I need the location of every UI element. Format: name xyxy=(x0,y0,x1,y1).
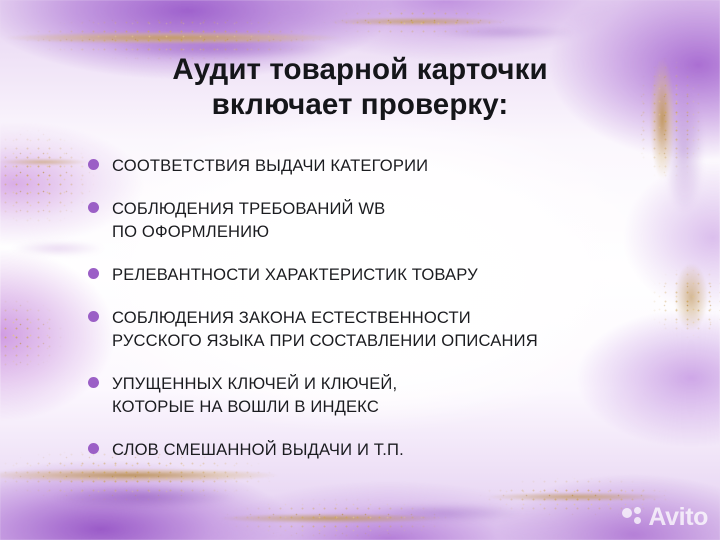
avito-dot-bottom xyxy=(634,517,641,524)
list-item: РЕЛЕВАНТНОСТИ ХАРАКТЕРИСТИК ТОВАРУ xyxy=(88,263,688,286)
avito-watermark: Avito xyxy=(622,505,708,530)
checklist: СООТВЕТСТВИЯ ВЫДАЧИ КАТЕГОРИИ СОБЛЮДЕНИЯ… xyxy=(88,154,688,461)
page-title-line-2: включает проверку: xyxy=(60,87,660,122)
list-item: СОБЛЮДЕНИЯ ЗАКОНА ЕСТЕСТВЕННОСТИ РУССКОГ… xyxy=(88,306,688,352)
list-item-text: СЛОВ СМЕШАННОЙ ВЫДАЧИ И Т.П. xyxy=(112,438,688,461)
bullet-dot-icon xyxy=(88,443,99,454)
bullet-dot-icon xyxy=(88,159,99,170)
list-item-text: СОБЛЮДЕНИЯ ТРЕБОВАНИЙ WB ПО ОФОРМЛЕНИЮ xyxy=(112,197,688,243)
avito-dot-large xyxy=(622,508,632,518)
list-item-text: СООТВЕТСТВИЯ ВЫДАЧИ КАТЕГОРИИ xyxy=(112,154,688,177)
list-item: СОБЛЮДЕНИЯ ТРЕБОВАНИЙ WB ПО ОФОРМЛЕНИЮ xyxy=(88,197,688,243)
list-item-text: УПУЩЕННЫХ КЛЮЧЕЙ И КЛЮЧЕЙ, КОТОРЫЕ НА ВО… xyxy=(112,372,688,418)
bullet-dot-icon xyxy=(88,377,99,388)
list-item-line: СООТВЕТСТВИЯ ВЫДАЧИ КАТЕГОРИИ xyxy=(112,154,688,177)
bullet-dot-icon xyxy=(88,268,99,279)
list-item-line: РЕЛЕВАНТНОСТИ ХАРАКТЕРИСТИК ТОВАРУ xyxy=(112,263,688,286)
list-item-line: КОТОРЫЕ НА ВОШЛИ В ИНДЕКС xyxy=(112,395,688,418)
list-item-text: СОБЛЮДЕНИЯ ЗАКОНА ЕСТЕСТВЕННОСТИ РУССКОГ… xyxy=(112,306,688,352)
bullet-dot-icon xyxy=(88,202,99,213)
list-item-line: СЛОВ СМЕШАННОЙ ВЫДАЧИ И Т.П. xyxy=(112,438,688,461)
list-item-line: УПУЩЕННЫХ КЛЮЧЕЙ И КЛЮЧЕЙ, xyxy=(112,372,688,395)
list-item-line: СОБЛЮДЕНИЯ ЗАКОНА ЕСТЕСТВЕННОСТИ xyxy=(112,306,688,329)
avito-dot-top xyxy=(634,507,641,514)
list-item-line: СОБЛЮДЕНИЯ ТРЕБОВАНИЙ WB xyxy=(112,197,688,220)
page-title-line-1: Аудит товарной карточки xyxy=(60,52,660,87)
list-item: СЛОВ СМЕШАННОЙ ВЫДАЧИ И Т.П. xyxy=(88,438,688,461)
slide-content: Аудит товарной карточки включает проверк… xyxy=(0,0,720,540)
list-item-line: ПО ОФОРМЛЕНИЮ xyxy=(112,220,688,243)
list-item-line: РУССКОГО ЯЗЫКА ПРИ СОСТАВЛЕНИИ ОПИСАНИЯ xyxy=(112,329,688,352)
avito-dots-icon xyxy=(622,507,643,528)
bullet-dot-icon xyxy=(88,311,99,322)
list-item: СООТВЕТСТВИЯ ВЫДАЧИ КАТЕГОРИИ xyxy=(88,154,688,177)
page-title: Аудит товарной карточки включает проверк… xyxy=(60,52,660,122)
list-item-text: РЕЛЕВАНТНОСТИ ХАРАКТЕРИСТИК ТОВАРУ xyxy=(112,263,688,286)
avito-wordmark: Avito xyxy=(648,505,708,530)
slide-canvas: Аудит товарной карточки включает проверк… xyxy=(0,0,720,540)
list-item: УПУЩЕННЫХ КЛЮЧЕЙ И КЛЮЧЕЙ, КОТОРЫЕ НА ВО… xyxy=(88,372,688,418)
